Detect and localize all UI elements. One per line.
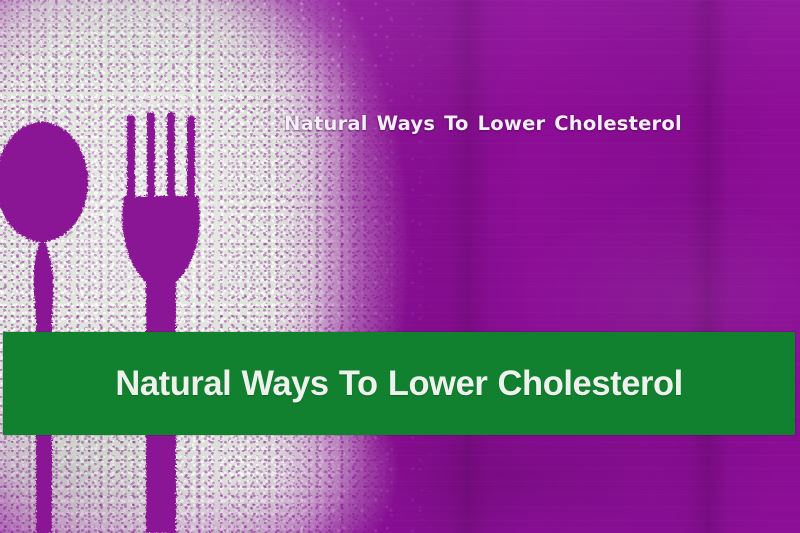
cutlery-silhouettes xyxy=(0,0,430,533)
green-title-banner: Natural Ways To Lower Cholesterol xyxy=(3,332,795,435)
photo-overlay-title: Natural Ways To Lower Cholesterol xyxy=(248,112,718,135)
feature-image-canvas: Natural Ways To Lower Cholesterol Natura… xyxy=(0,0,800,533)
spoon-icon xyxy=(0,122,88,533)
banner-title-text: Natural Ways To Lower Cholesterol xyxy=(115,364,683,404)
fork-icon xyxy=(122,112,199,533)
